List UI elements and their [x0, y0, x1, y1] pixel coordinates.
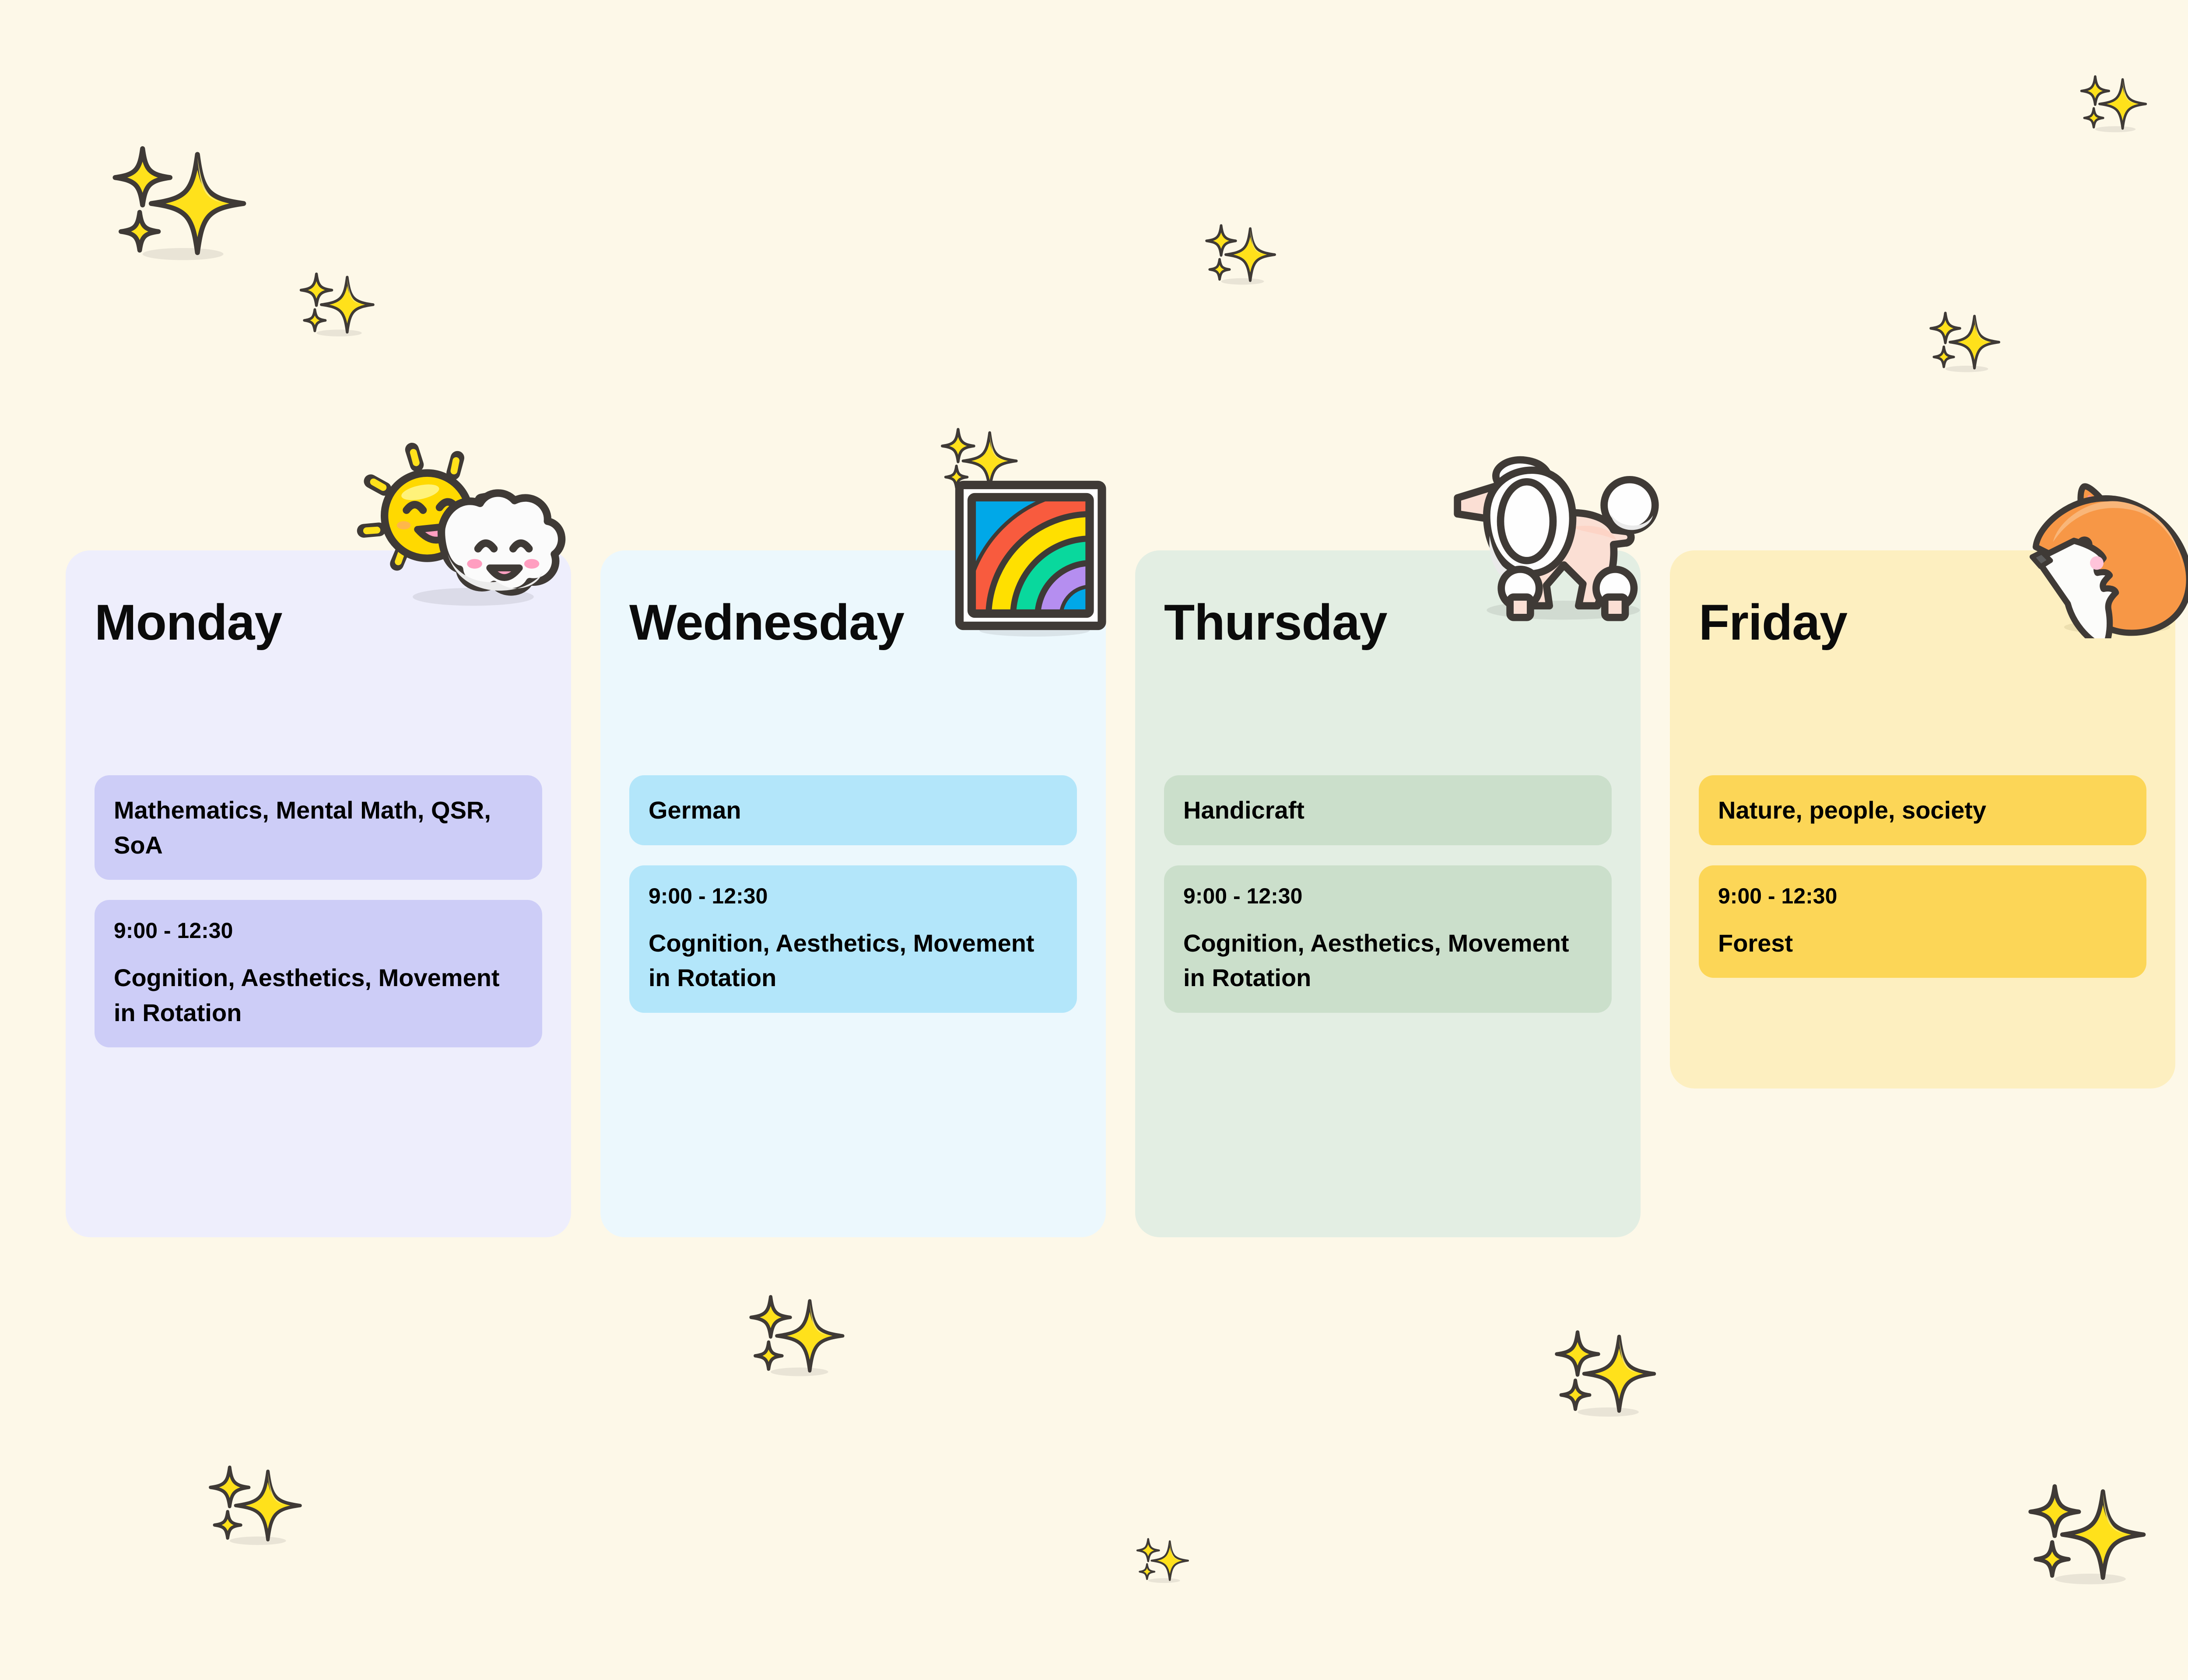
- lesson-subject: Mathematics, Mental Math, QSR, SoA: [114, 793, 523, 862]
- lesson-subject: Cognition, Aesthetics, Movement in Rotat…: [649, 926, 1058, 995]
- weekly-schedule: Monday Mathematics,: [0, 550, 2188, 1250]
- lesson-subject: Cognition, Aesthetics, Movement in Rotat…: [114, 960, 523, 1030]
- sparkles-icon-bottom-center: [744, 1291, 847, 1381]
- day-card-wednesday[interactable]: Wednesday German9:00 - 12: [600, 550, 1106, 1237]
- lesson-block-list: German9:00 - 12:30Cognition, Aesthetics,…: [629, 775, 1077, 1033]
- day-card-monday[interactable]: Monday Mathematics,: [66, 550, 571, 1237]
- lesson-time: 9:00 - 12:30: [1718, 883, 2127, 909]
- day-title: Friday: [1699, 598, 1847, 648]
- lesson-block[interactable]: Mathematics, Mental Math, QSR, SoA: [95, 775, 542, 880]
- lesson-subject: Handicraft: [1183, 793, 1592, 828]
- framed-rainbow-picture-icon: [955, 480, 1108, 639]
- day-title: Monday: [95, 598, 282, 648]
- lesson-block-list: Mathematics, Mental Math, QSR, SoA9:00 -…: [95, 775, 542, 1067]
- lesson-time: 9:00 - 12:30: [1183, 883, 1592, 909]
- sparkles-icon-bottom-far-right: [2022, 1479, 2149, 1590]
- sparkles-icon-above-rainbow: [936, 424, 1020, 498]
- lesson-time: 9:00 - 12:30: [114, 917, 523, 944]
- lesson-block[interactable]: Nature, people, society: [1699, 775, 2146, 845]
- sparkles-icon-top-center: [1201, 221, 1278, 289]
- day-card-thursday[interactable]: Thursday Handicraft9:00 - 12:30Cognition…: [1135, 550, 1641, 1237]
- sun-behind-cloud-icon: [346, 433, 573, 613]
- sparkles-icon-top-left: [105, 140, 249, 266]
- day-card-friday[interactable]: Friday Nature, people, society9:00 - 12:…: [1670, 550, 2175, 1088]
- sparkles-icon-bottom-left: [203, 1461, 304, 1550]
- day-title: Wednesday: [629, 598, 904, 648]
- fox-face-icon: [2024, 480, 2188, 640]
- sparkles-icon-top-right: [2076, 72, 2149, 136]
- lesson-time: 9:00 - 12:30: [649, 883, 1058, 909]
- lesson-block[interactable]: 9:00 - 12:30Cognition, Aesthetics, Movem…: [629, 865, 1077, 1013]
- lesson-block[interactable]: 9:00 - 12:30Cognition, Aesthetics, Movem…: [1164, 865, 1612, 1013]
- lesson-block[interactable]: German: [629, 775, 1077, 845]
- lesson-subject: Cognition, Aesthetics, Movement in Rotat…: [1183, 926, 1592, 995]
- sparkles-icon-bottom-right-1: [1549, 1326, 1659, 1422]
- lesson-subject: Forest: [1718, 926, 2127, 961]
- sparkles-icon-upper-right: [1925, 308, 2002, 377]
- lesson-block[interactable]: 9:00 - 12:30Cognition, Aesthetics, Movem…: [95, 900, 542, 1047]
- poodle-dog-icon: [1450, 445, 1669, 627]
- sparkles-icon-bottom-small: [1133, 1536, 1190, 1587]
- sparkles-icon-upper-left-2: [295, 269, 376, 341]
- lesson-subject: Nature, people, society: [1718, 793, 2127, 828]
- lesson-block-list: Nature, people, society9:00 - 12:30Fores…: [1699, 775, 2146, 998]
- lesson-subject: German: [649, 793, 1058, 828]
- lesson-block-list: Handicraft9:00 - 12:30Cognition, Aesthet…: [1164, 775, 1612, 1033]
- day-title: Thursday: [1164, 598, 1387, 648]
- lesson-block[interactable]: 9:00 - 12:30Forest: [1699, 865, 2146, 978]
- lesson-block[interactable]: Handicraft: [1164, 775, 1612, 845]
